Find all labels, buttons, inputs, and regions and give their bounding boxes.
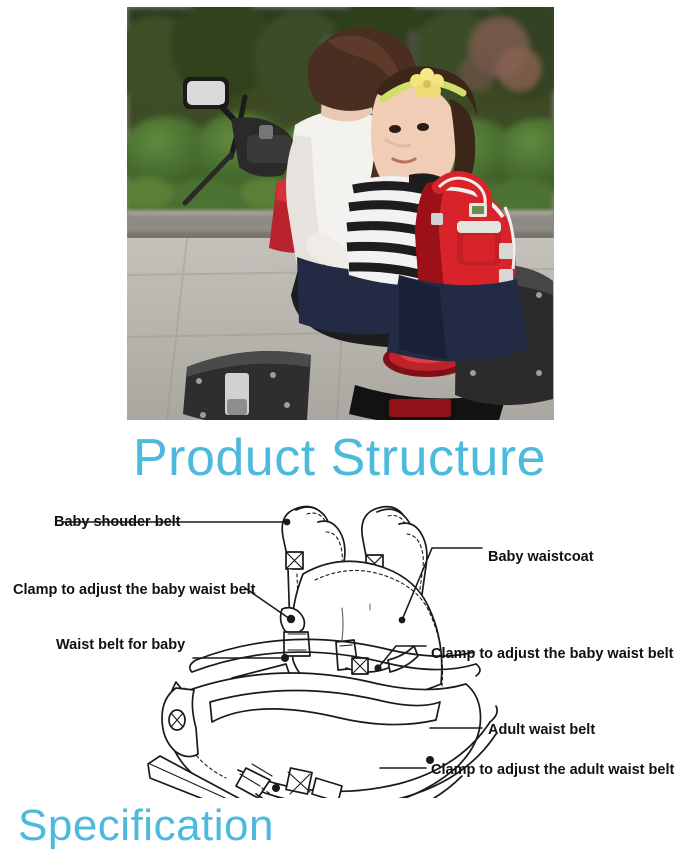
- callout-label-clamp-baby-waist-belt-right: Clamp to adjust the baby waist belt: [431, 646, 674, 663]
- callout-label-adult-waist-belt: Adult waist belt: [488, 722, 595, 739]
- page-title: Product Structure: [0, 428, 679, 488]
- callout-label-waist-belt-for-baby: Waist belt for baby: [56, 637, 185, 654]
- callout-label-baby-waistcoat: Baby waistcoat: [488, 549, 594, 566]
- callout-label-clamp-baby-waist-belt-left: Clamp to adjust the baby waist belt: [13, 582, 256, 599]
- callout-label-baby-shoulder-belt: Baby shouder belt: [54, 514, 181, 531]
- product-photo-illustration: [127, 7, 554, 420]
- product-photo: [127, 7, 554, 420]
- next-section-title: Specification: [18, 800, 274, 852]
- callout-label-clamp-adult-waist-belt: Clamp to adjust the adult waist belt: [431, 762, 674, 779]
